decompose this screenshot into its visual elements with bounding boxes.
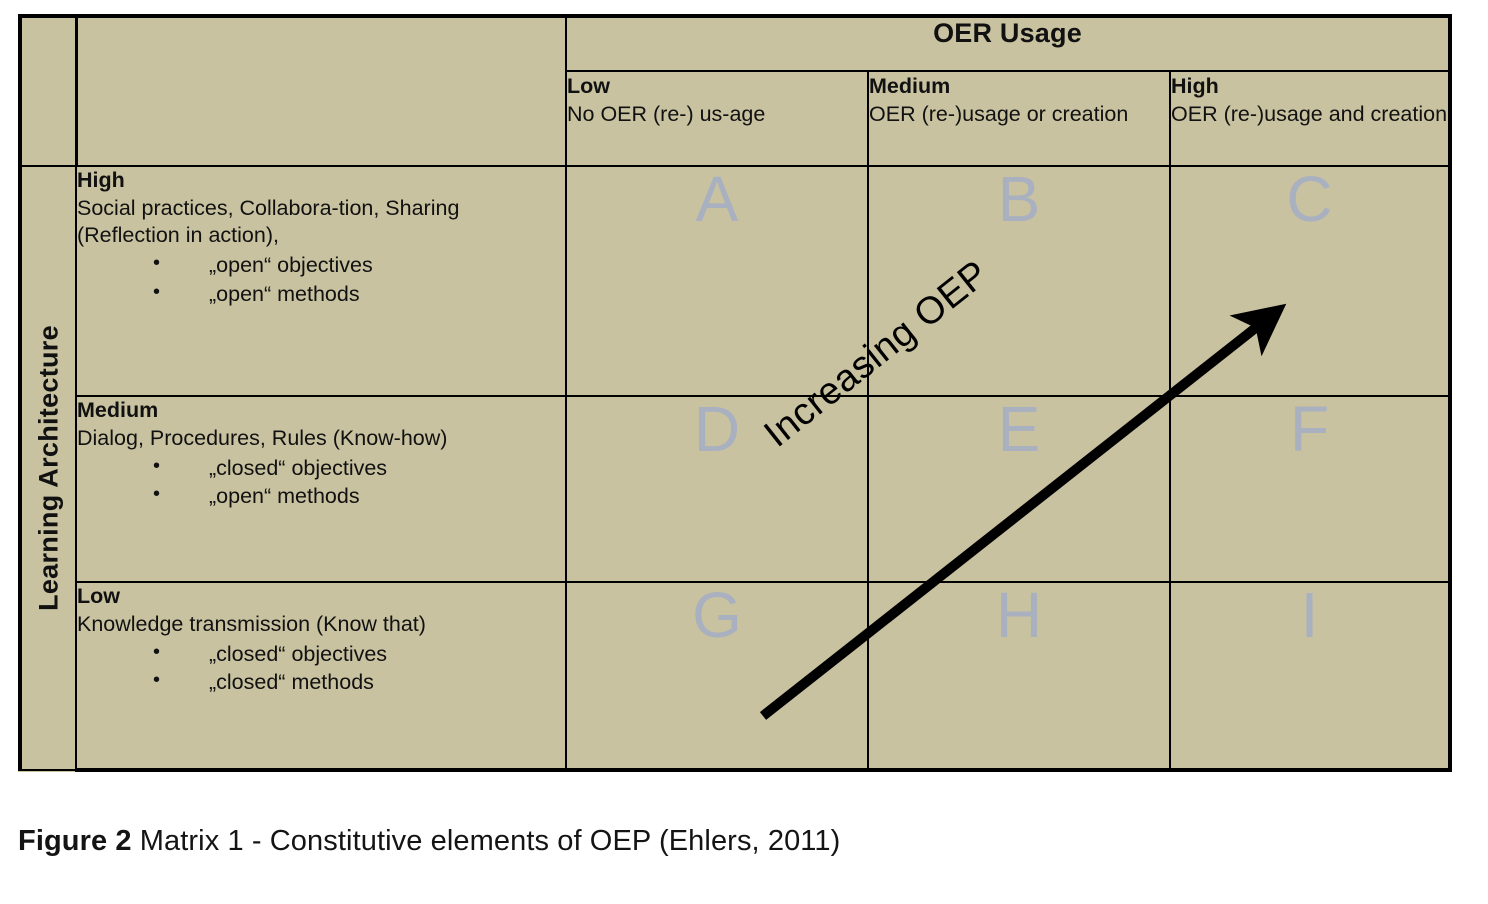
column-header-low: Low No OER (re-) us-age [566,71,868,166]
list-item: „open“ objectives [153,252,565,280]
matrix-corner-cell [20,16,76,166]
row-header-high-bullets: „open“ objectives „open“ methods [77,252,565,308]
row-header-medium: Medium Dialog, Procedures, Rules (Know-h… [76,396,566,582]
row-axis-title-cell: Learning Architecture [20,166,76,770]
column-header-medium-title: Medium [869,72,1169,101]
row-header-high-description: Social practices, Collabora-tion, Sharin… [77,195,565,250]
oep-matrix-table: OER Usage Low No OER (re-) us-age Medium… [18,14,1452,772]
list-item: „closed“ methods [153,669,565,697]
matrix-row-medium: Medium Dialog, Procedures, Rules (Know-h… [20,396,1450,582]
list-item: „closed“ objectives [153,641,565,669]
list-item: „closed“ objectives [153,455,565,483]
matrix-cell-letter: G [567,583,867,647]
matrix-cell-i: I [1170,582,1450,770]
matrix-cell-h: H [868,582,1170,770]
matrix-row-low: Low Knowledge transmission (Know that) „… [20,582,1450,770]
column-header-low-description: No OER (re-) us-age [567,100,867,129]
column-header-high-description: OER (re-)usage and creation [1171,100,1448,129]
matrix-cell-g: G [566,582,868,770]
list-item: „open“ methods [153,281,565,309]
figure-caption-text: Matrix 1 - Constitutive elements of OEP … [132,825,841,857]
column-header-high: High OER (re-)usage and creation [1170,71,1450,166]
column-header-high-title: High [1171,72,1448,101]
matrix-cell-letter: E [869,397,1169,461]
matrix-cell-b: B [868,166,1170,396]
matrix-corner-cell-wide [76,16,566,166]
matrix-cell-f: F [1170,396,1450,582]
column-header-medium-description: OER (re-)usage or creation [869,100,1169,129]
matrix-cell-e: E [868,396,1170,582]
row-header-medium-title: Medium [77,397,565,425]
header-row-axis-title: OER Usage [20,16,1450,71]
matrix-cell-letter: B [869,167,1169,231]
matrix-cell-c: C [1170,166,1450,396]
matrix-cell-a: A [566,166,868,396]
row-header-low-title: Low [77,583,565,611]
list-item: „open“ methods [153,483,565,511]
row-header-medium-bullets: „closed“ objectives „open“ methods [77,455,565,511]
row-header-high-title: High [77,167,565,195]
figure-container: OER Usage Low No OER (re-) us-age Medium… [0,0,1488,904]
matrix-cell-letter: F [1171,397,1448,461]
row-header-low: Low Knowledge transmission (Know that) „… [76,582,566,770]
matrix-cell-letter: C [1171,167,1448,231]
matrix-cell-letter: A [567,167,867,231]
matrix-cell-letter: H [869,583,1169,647]
column-axis-title: OER Usage [566,16,1450,71]
column-header-medium: Medium OER (re-)usage or creation [868,71,1170,166]
row-header-medium-description: Dialog, Procedures, Rules (Know-how) [77,425,565,453]
figure-caption-label: Figure 2 [18,825,132,857]
row-header-low-bullets: „closed“ objectives „closed“ methods [77,641,565,697]
figure-caption: Figure 2 Matrix 1 - Constitutive element… [18,825,840,858]
row-axis-title: Learning Architecture [33,325,64,611]
matrix-table-wrapper: OER Usage Low No OER (re-) us-age Medium… [18,14,1448,772]
row-header-high: High Social practices, Collabora-tion, S… [76,166,566,396]
row-header-low-description: Knowledge transmission (Know that) [77,611,565,639]
column-header-low-title: Low [567,72,867,101]
matrix-cell-letter: I [1171,583,1448,647]
matrix-row-high: Learning Architecture High Social practi… [20,166,1450,396]
